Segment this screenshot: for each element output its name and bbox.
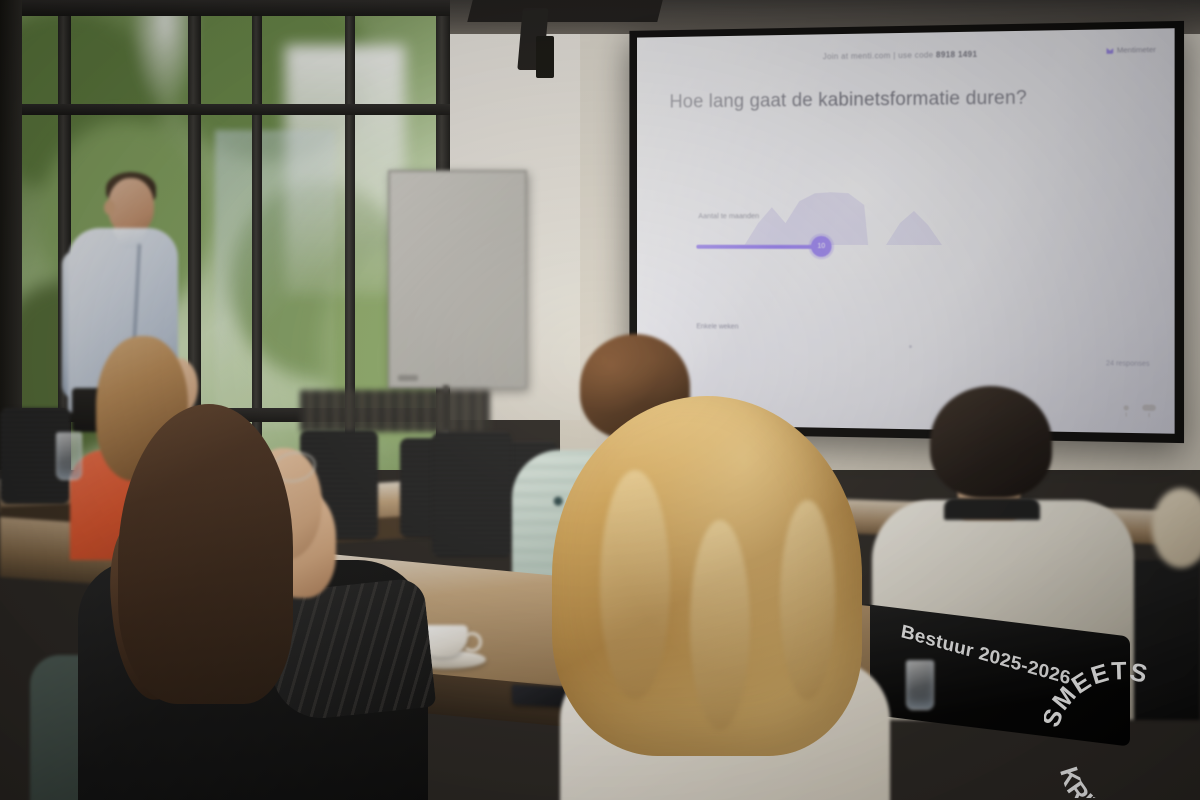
mentimeter-logo: Mentimeter [1107, 45, 1156, 55]
menu-pill-icon[interactable] [1142, 405, 1156, 417]
water-glass-right [906, 660, 934, 710]
menti-join-code: 8918 1491 [936, 50, 977, 60]
scale-label: Aantal te maanden [698, 211, 759, 220]
ceiling-beam [467, 0, 662, 22]
window-reflection [215, 130, 335, 430]
menti-controls[interactable] [1124, 404, 1156, 417]
projector-arm [536, 36, 554, 78]
audience-far-right [1152, 488, 1200, 568]
slider-thumb[interactable]: 10 [811, 236, 832, 257]
slide-visualization: Aantal te maanden 10 Enkele weken [669, 182, 1145, 356]
mentimeter-logo-label: Mentimeter [1117, 45, 1156, 55]
qr-code-icon[interactable] [1124, 405, 1129, 416]
chair-center [432, 432, 512, 557]
slider-track[interactable] [696, 245, 824, 249]
projection-screen-frame: Join at menti.com | use code 8918 1491 M… [629, 21, 1184, 443]
watermark-line2: KRING [1054, 764, 1126, 798]
photo-scene: Join at menti.com | use code 8918 1491 M… [0, 0, 1200, 800]
projection-screen: Join at menti.com | use code 8918 1491 M… [637, 28, 1175, 434]
response-count: 24 responses [1106, 360, 1150, 368]
menti-join-header: Join at menti.com | use code 8918 1491 [637, 47, 1175, 64]
water-glass-back [56, 432, 82, 480]
menti-join-text: Join at menti.com | use code [823, 50, 934, 61]
axis-left-label: Enkele weken [696, 323, 738, 330]
flipchart [388, 170, 527, 389]
axis-midpoint-dot [909, 345, 912, 348]
cup-handle [462, 632, 482, 652]
radiator [300, 390, 490, 432]
slide-title: Hoe lang gaat de kabinetsformatie duren? [669, 87, 1026, 113]
mentimeter-mark-icon [1107, 47, 1114, 54]
window-frame [0, 0, 22, 470]
